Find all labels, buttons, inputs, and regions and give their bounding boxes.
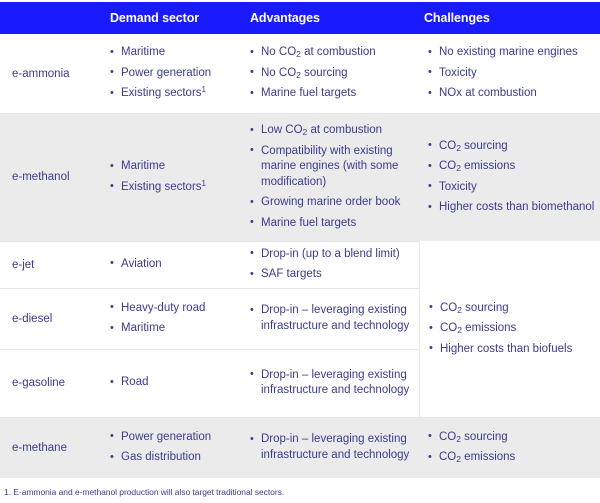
fuel-name: e-methane: [12, 441, 110, 455]
advantages-list: Drop-in (up to a blend limit) SAF target…: [250, 247, 419, 283]
list-item: Drop-in – leveraging existing infrastruc…: [250, 368, 419, 399]
list-item: Growing marine order book: [250, 195, 419, 211]
table-row: e-gasoline Road Drop-in – leveraging exi…: [0, 349, 419, 417]
list-item: Existing sectors1: [110, 180, 250, 196]
list-item: Power generation: [110, 430, 250, 446]
demand-list: Power generation Gas distribution: [110, 430, 250, 466]
row-demand-cell: Heavy-duty road Maritime: [110, 288, 250, 349]
list-item: No existing marine engines: [428, 45, 600, 61]
list-item: CO2 emissions: [428, 159, 600, 175]
list-item: Marine fuel targets: [250, 216, 419, 232]
fuel-name: e-gasoline: [12, 376, 110, 390]
table-row: e-methane Power generation Gas distribut…: [0, 417, 600, 478]
list-item: No CO2 at combustion: [250, 45, 419, 61]
list-item: No CO2 sourcing: [250, 66, 419, 82]
demand-list: Maritime Power generation Existing secto…: [110, 45, 250, 102]
list-item: CO2 sourcing: [428, 430, 600, 446]
demand-list: Maritime Existing sectors1: [110, 159, 250, 195]
column-header-advantages: Advantages: [250, 11, 424, 25]
list-item: Existing sectors1: [110, 86, 250, 102]
challenges-list: CO2 sourcing CO2 emissions Higher costs …: [429, 301, 600, 358]
challenges-list: CO2 sourcing CO2 emissions Toxicity High…: [428, 139, 600, 216]
row-demand-cell: Maritime Power generation Existing secto…: [110, 34, 250, 113]
column-header-challenges: Challenges: [424, 11, 600, 25]
list-item: CO2 sourcing: [429, 301, 600, 317]
table-row: e-methanol Maritime Existing sectors1 Lo…: [0, 113, 600, 241]
row-challenges-cell: No existing marine engines Toxicity NOx …: [419, 34, 600, 113]
list-item: Gas distribution: [110, 450, 250, 466]
advantages-list: Drop-in – leveraging existing infrastruc…: [250, 368, 419, 399]
list-item: CO2 emissions: [429, 321, 600, 337]
row-advantages-cell: Drop-in – leveraging existing infrastruc…: [250, 288, 419, 349]
list-item: CO2 emissions: [428, 450, 600, 466]
advantages-list: Drop-in – leveraging existing infrastruc…: [250, 303, 419, 334]
demand-list: Road: [110, 375, 250, 391]
row-demand-cell: Maritime Existing sectors1: [110, 113, 250, 241]
row-advantages-cell: Drop-in – leveraging existing infrastruc…: [250, 349, 419, 417]
row-advantages-cell: Drop-in – leveraging existing infrastruc…: [250, 417, 419, 478]
list-item: Maritime: [110, 321, 250, 337]
advantages-list: Low CO2 at combustion Compatibility with…: [250, 123, 419, 231]
row-fuel-cell: e-methanol: [0, 113, 110, 241]
list-item: Drop-in – leveraging existing infrastruc…: [250, 303, 419, 334]
challenges-list: CO2 sourcing CO2 emissions: [428, 430, 600, 466]
fuel-name: e-diesel: [12, 312, 110, 326]
list-item: Power generation: [110, 66, 250, 82]
footnote-marker: 1: [202, 85, 206, 94]
challenges-list: No existing marine engines Toxicity NOx …: [428, 45, 600, 102]
row-fuel-cell: e-methane: [0, 417, 110, 478]
column-header-demand-sector: Demand sector: [110, 11, 250, 25]
row-demand-cell: Power generation Gas distribution: [110, 417, 250, 478]
fuel-comparison-table-figure: Demand sector Advantages Challenges e-am…: [0, 0, 600, 503]
list-item: Maritime: [110, 45, 250, 61]
fuel-name: e-ammonia: [12, 67, 110, 81]
merged-group-rows: e-jet Aviation Drop-in (up to a blend li…: [0, 241, 419, 417]
row-fuel-cell: e-ammonia: [0, 34, 110, 113]
list-item: Heavy-duty road: [110, 301, 250, 317]
list-item: Compatibility with existing marine engin…: [250, 144, 419, 191]
row-fuel-cell: e-jet: [0, 241, 110, 288]
list-item: NOx at combustion: [428, 86, 600, 102]
list-item: Drop-in (up to a blend limit): [250, 247, 419, 263]
list-item: Maritime: [110, 159, 250, 175]
list-item: CO2 sourcing: [428, 139, 600, 155]
table-row: e-diesel Heavy-duty road Maritime Drop-i…: [0, 288, 419, 349]
table-body: e-ammonia Maritime Power generation Exis…: [0, 34, 600, 478]
row-advantages-cell: Drop-in (up to a blend limit) SAF target…: [250, 241, 419, 288]
list-item: Higher costs than biomethanol: [428, 200, 600, 216]
fuel-name: e-jet: [12, 258, 110, 272]
list-item: Toxicity: [428, 66, 600, 82]
table-row: e-ammonia Maritime Power generation Exis…: [0, 34, 600, 113]
list-item: Road: [110, 375, 250, 391]
demand-list: Aviation: [110, 257, 250, 273]
list-item: Low CO2 at combustion: [250, 123, 419, 139]
list-item: Marine fuel targets: [250, 86, 419, 102]
fuel-name: e-methanol: [12, 170, 110, 184]
table-row: e-jet Aviation Drop-in (up to a blend li…: [0, 241, 419, 288]
list-item: Toxicity: [428, 180, 600, 196]
demand-list: Heavy-duty road Maritime: [110, 301, 250, 337]
row-advantages-cell: Low CO2 at combustion Compatibility with…: [250, 113, 419, 241]
advantages-list: No CO2 at combustion No CO2 sourcing Mar…: [250, 45, 419, 102]
row-fuel-cell: e-diesel: [0, 288, 110, 349]
row-challenges-cell: CO2 sourcing CO2 emissions: [419, 417, 600, 478]
row-demand-cell: Aviation: [110, 241, 250, 288]
list-item: SAF targets: [250, 267, 419, 283]
row-fuel-cell: e-gasoline: [0, 349, 110, 417]
list-item: Aviation: [110, 257, 250, 273]
row-advantages-cell: No CO2 at combustion No CO2 sourcing Mar…: [250, 34, 419, 113]
row-demand-cell: Road: [110, 349, 250, 417]
table-footnote: 1. E-ammonia and e-methanol production w…: [4, 486, 284, 498]
row-challenges-cell: CO2 sourcing CO2 emissions Toxicity High…: [419, 113, 600, 241]
list-item: Higher costs than biofuels: [429, 342, 600, 358]
table-header-row: Demand sector Advantages Challenges: [0, 2, 600, 34]
merged-row-group: e-jet Aviation Drop-in (up to a blend li…: [0, 241, 600, 417]
footnote-marker: 1: [202, 179, 206, 188]
list-item: Drop-in – leveraging existing infrastruc…: [250, 432, 419, 463]
merged-challenges-cell: CO2 sourcing CO2 emissions Higher costs …: [419, 241, 600, 417]
advantages-list: Drop-in – leveraging existing infrastruc…: [250, 432, 419, 463]
